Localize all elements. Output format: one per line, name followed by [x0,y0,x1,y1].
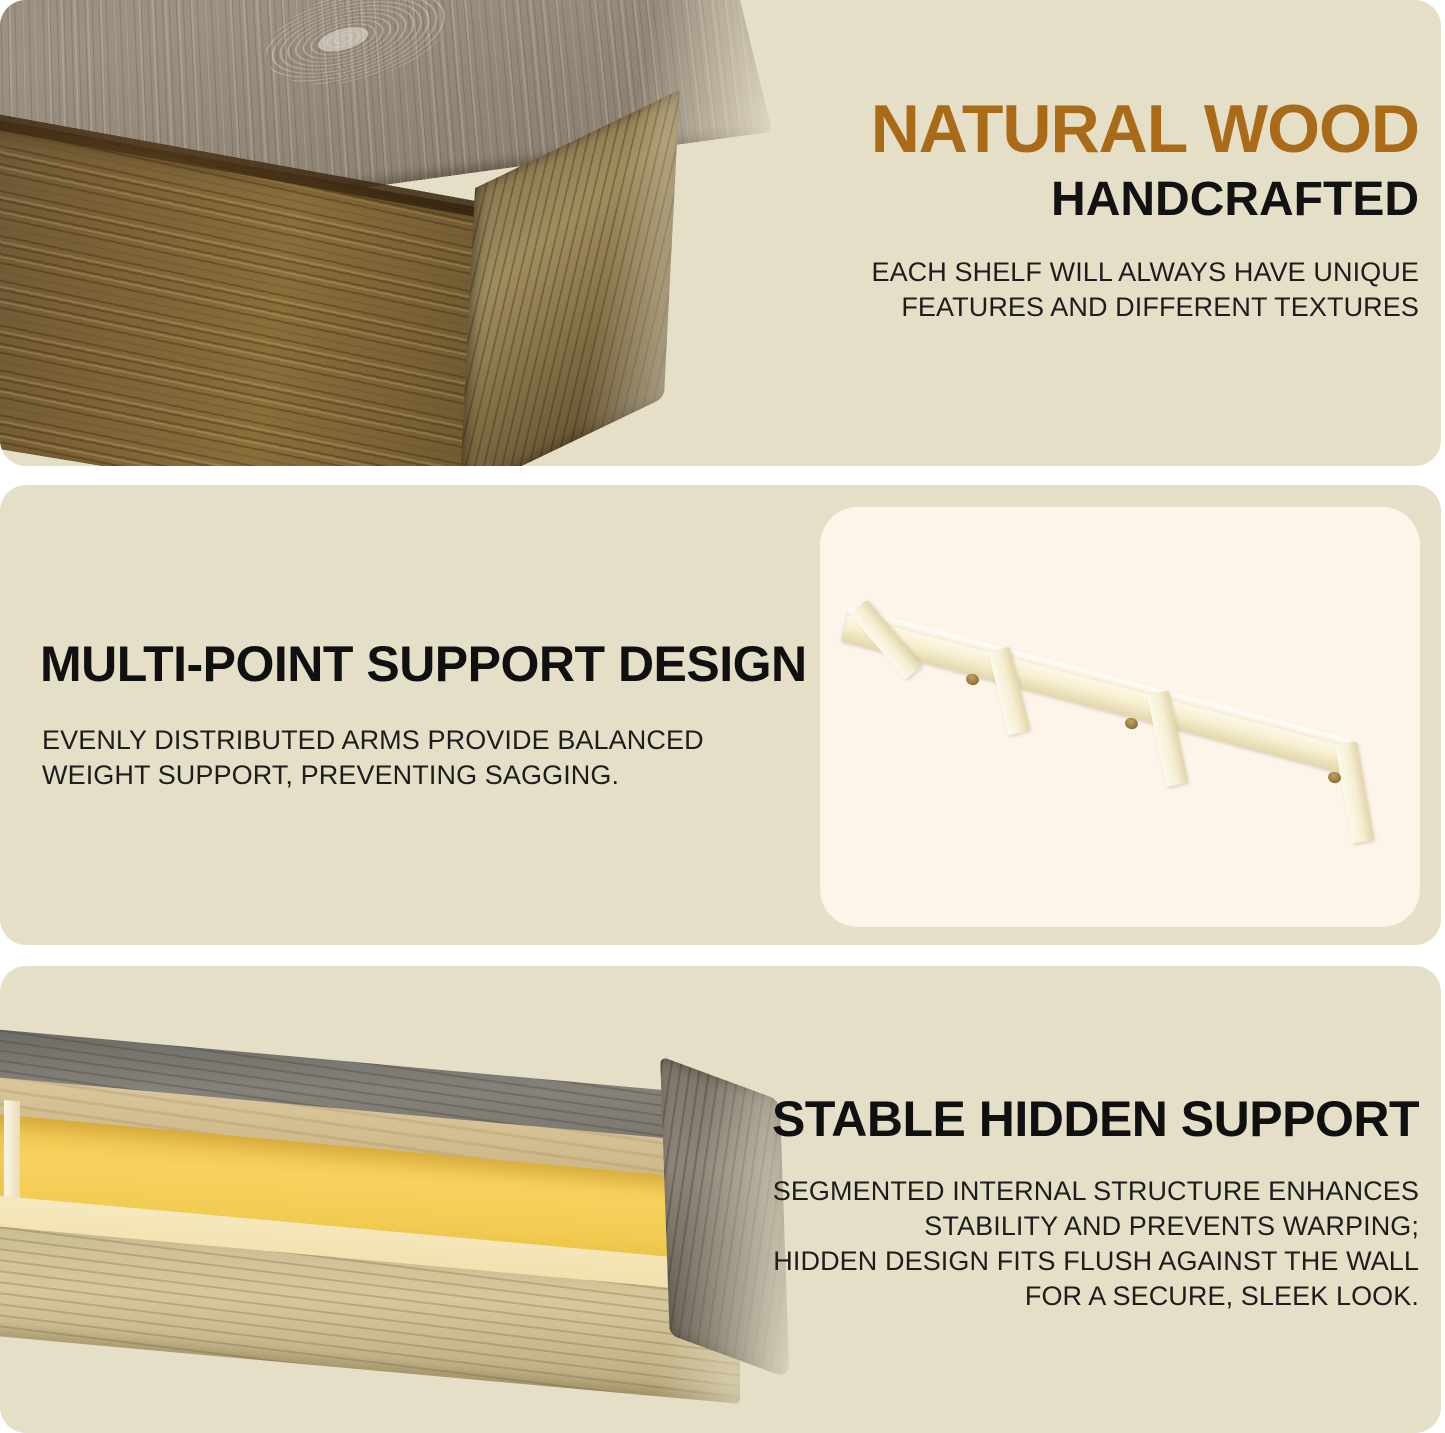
panel-hidden-support-heading: STABLE HIDDEN SUPPORT [772,1093,1419,1146]
body-line: SEGMENTED INTERNAL STRUCTURE ENHANCES [773,1174,1419,1209]
photo-edge-fade [0,0,800,463]
panel-multi-point-support: MULTI-POINT SUPPORT DESIGN EVENLY DISTRI… [0,485,1441,945]
wood-beam-photo [0,0,800,463]
hollow-shelf-photo [0,1026,840,1416]
infographic-page: NATURAL WOOD HANDCRAFTED EACH SHELF WILL… [0,0,1445,1433]
bracket-main-rail [841,615,1350,773]
body-line: HIDDEN DESIGN FITS FLUSH AGAINST THE WAL… [773,1244,1419,1279]
bracket-screw-hole-2 [1124,717,1139,731]
photo-edge-fade [0,1026,840,1416]
body-line: FOR A SECURE, SLEEK LOOK. [773,1279,1419,1314]
panel-natural-wood: NATURAL WOOD HANDCRAFTED EACH SHELF WILL… [0,0,1441,466]
body-line: EACH SHELF WILL ALWAYS HAVE UNIQUE [871,255,1419,290]
panel-natural-wood-subheading: HANDCRAFTED [1051,175,1419,225]
bracket-image-card [820,507,1420,927]
panel-multi-point-body: EVENLY DISTRIBUTED ARMS PROVIDE BALANCED… [42,723,704,793]
panel-hidden-support-body: SEGMENTED INTERNAL STRUCTURE ENHANCES ST… [773,1174,1419,1314]
body-line: STABILITY AND PREVENTS WARPING; [773,1209,1419,1244]
panel-natural-wood-body: EACH SHELF WILL ALWAYS HAVE UNIQUE FEATU… [871,255,1419,325]
panel-natural-wood-accent-heading: NATURAL WOOD [871,95,1419,164]
bracket-arm-4 [1335,741,1374,843]
body-line: EVENLY DISTRIBUTED ARMS PROVIDE BALANCED [42,723,704,758]
panel-multi-point-heading: MULTI-POINT SUPPORT DESIGN [40,638,807,691]
body-line: WEIGHT SUPPORT, PREVENTING SAGGING. [42,758,704,793]
body-line: FEATURES AND DIFFERENT TEXTURES [871,290,1419,325]
panel-stable-hidden-support: STABLE HIDDEN SUPPORT SEGMENTED INTERNAL… [0,966,1441,1433]
